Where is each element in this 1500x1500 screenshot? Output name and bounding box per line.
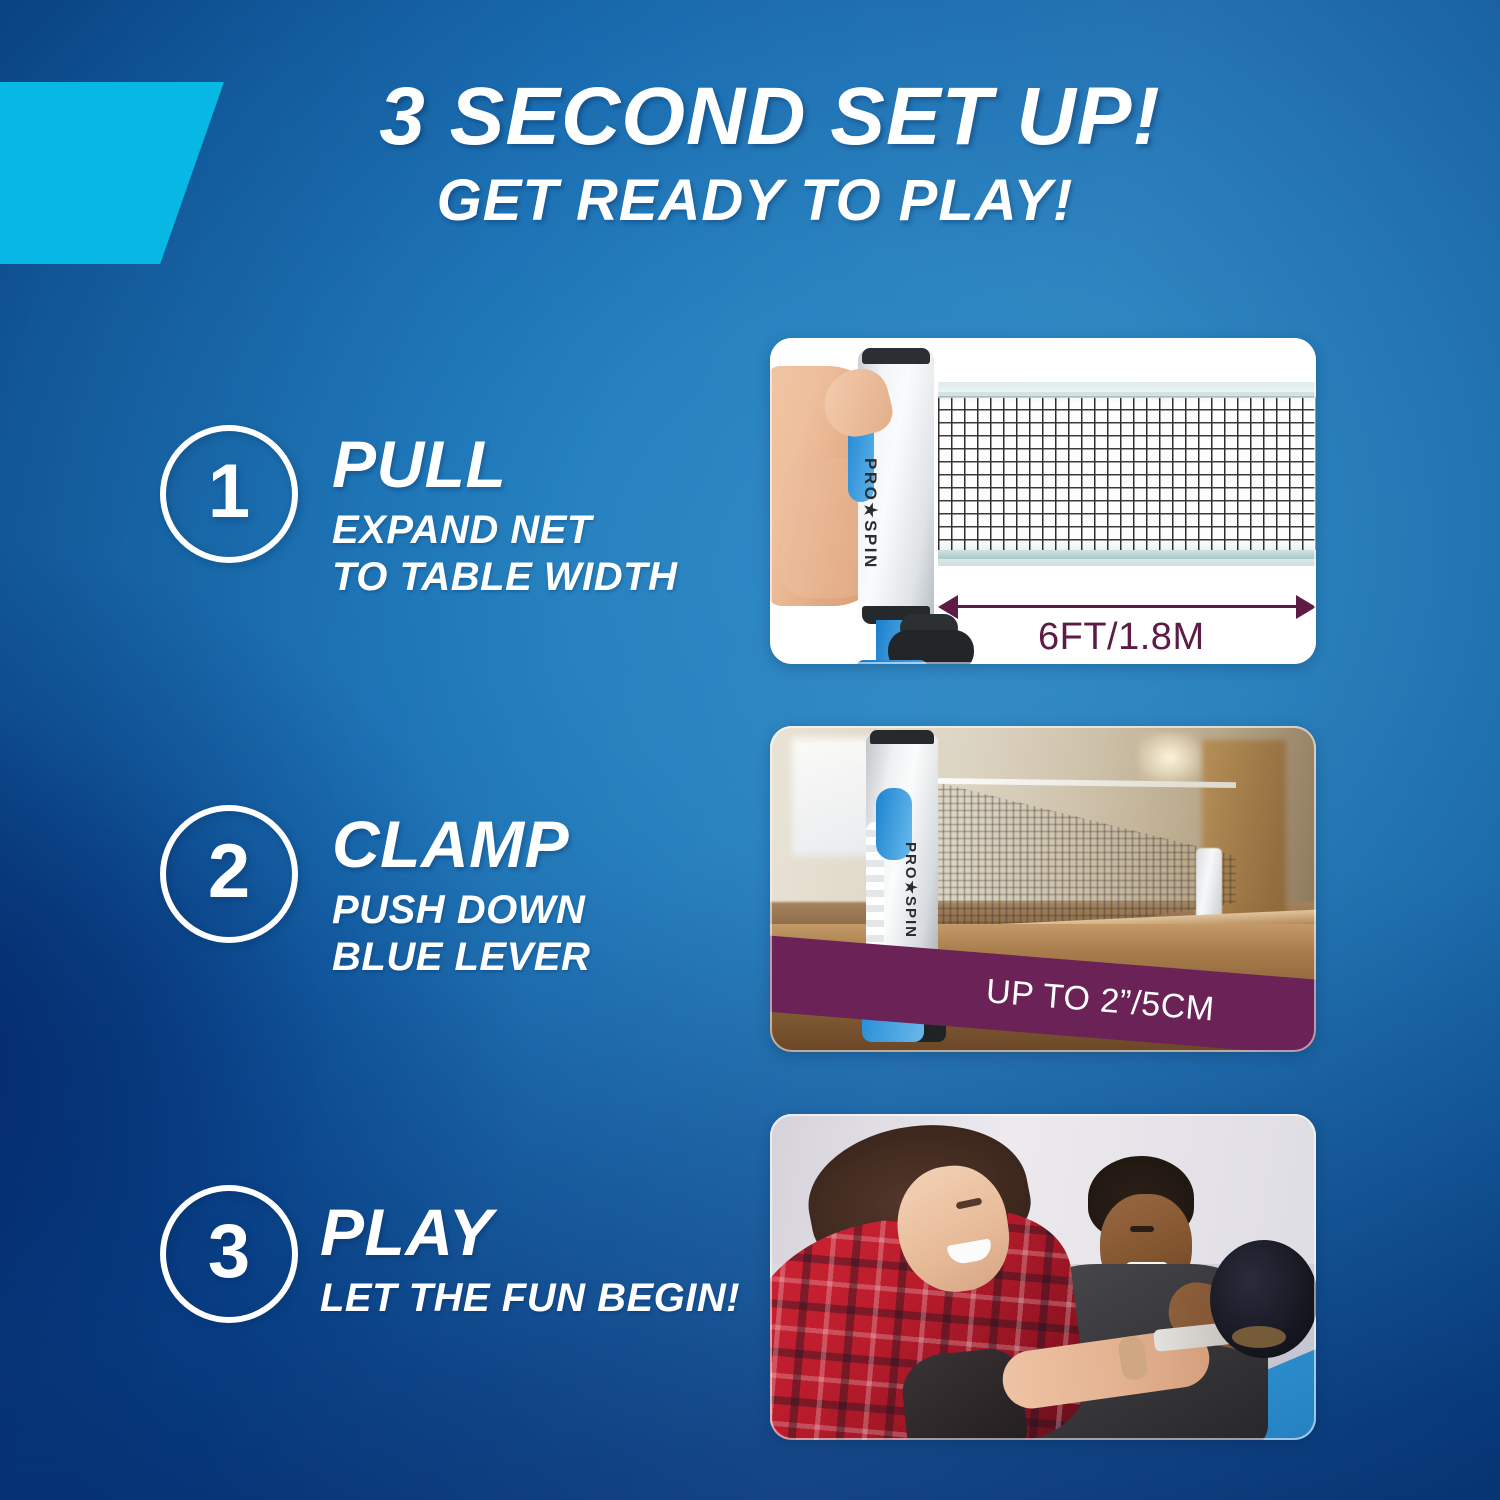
paddle-rim (1232, 1326, 1286, 1348)
step-item-pull: 1 PULL EXPAND NET TO TABLE WIDTH (160, 425, 677, 601)
step-number-badge: 2 (160, 805, 298, 943)
brand-logo-text: PRO★SPIN (856, 458, 880, 608)
step-number-label: 3 (208, 1214, 250, 1290)
step-title: PLAY (320, 1199, 740, 1265)
step-number-label: 1 (208, 454, 250, 530)
page-subtitle: GET READY TO PLAY! (0, 169, 1500, 233)
step-description: PUSH DOWN BLUE LEVER (332, 887, 590, 981)
header: 3 SECOND SET UP! GET READY TO PLAY! (0, 74, 1500, 233)
photo-card-clamp: PRO★SPIN UP TO 2”/5CM (770, 726, 1316, 1052)
step-item-clamp: 2 CLAMP PUSH DOWN BLUE LEVER (160, 805, 590, 981)
net-bottom-edge (938, 550, 1316, 559)
net-post-top-cap (862, 348, 930, 364)
step-item-play: 3 PLAY LET THE FUN BEGIN! (160, 1185, 740, 1323)
lifestyle-photo-play (770, 1114, 1316, 1440)
dimension-arrow-right-icon (1296, 595, 1316, 619)
room-lamp-glow (1138, 732, 1202, 784)
step-number-label: 2 (208, 834, 250, 910)
step-number-badge: 1 (160, 425, 298, 563)
step-description-line-1: EXPAND NET (332, 507, 677, 554)
step-description: EXPAND NET TO TABLE WIDTH (332, 507, 677, 601)
net-post-top-cap (870, 730, 934, 744)
step-text-block: PULL EXPAND NET TO TABLE WIDTH (332, 425, 677, 601)
step-number-badge: 3 (160, 1185, 298, 1323)
product-photo-clamp: PRO★SPIN UP TO 2”/5CM (770, 726, 1316, 1052)
dimension-label: 6FT/1.8M (1038, 616, 1205, 659)
step-description-line-1: LET THE FUN BEGIN! (320, 1275, 740, 1322)
step-title: CLAMP (332, 811, 590, 877)
step-description-line-2: BLUE LEVER (332, 934, 590, 981)
product-photo-pull: PRO★SPIN 6FT/1.8M (770, 338, 1316, 664)
page-title: 3 SECOND SET UP! (0, 74, 1500, 161)
brand-logo-text: PRO★SPIN (900, 842, 920, 962)
clamp-pad (888, 630, 974, 664)
net-top-edge (938, 392, 1316, 398)
step-description-line-2: TO TABLE WIDTH (332, 554, 677, 601)
step-text-block: PLAY LET THE FUN BEGIN! (320, 1185, 740, 1322)
step-title: PULL (332, 431, 677, 497)
dimension-arrow-left-icon (938, 595, 958, 619)
step-text-block: CLAMP PUSH DOWN BLUE LEVER (332, 805, 590, 981)
photo-card-pull: PRO★SPIN 6FT/1.8M (770, 338, 1316, 664)
step-description-line-1: PUSH DOWN (332, 887, 590, 934)
step-description: LET THE FUN BEGIN! (320, 1275, 740, 1322)
photo-card-play (770, 1114, 1316, 1440)
player-two-eye (1130, 1226, 1154, 1232)
net-mesh (938, 396, 1316, 554)
dimension-line (956, 605, 1296, 608)
clamp-callout-label: UP TO 2”/5CM (985, 972, 1216, 1029)
clamp-foot (856, 660, 928, 664)
